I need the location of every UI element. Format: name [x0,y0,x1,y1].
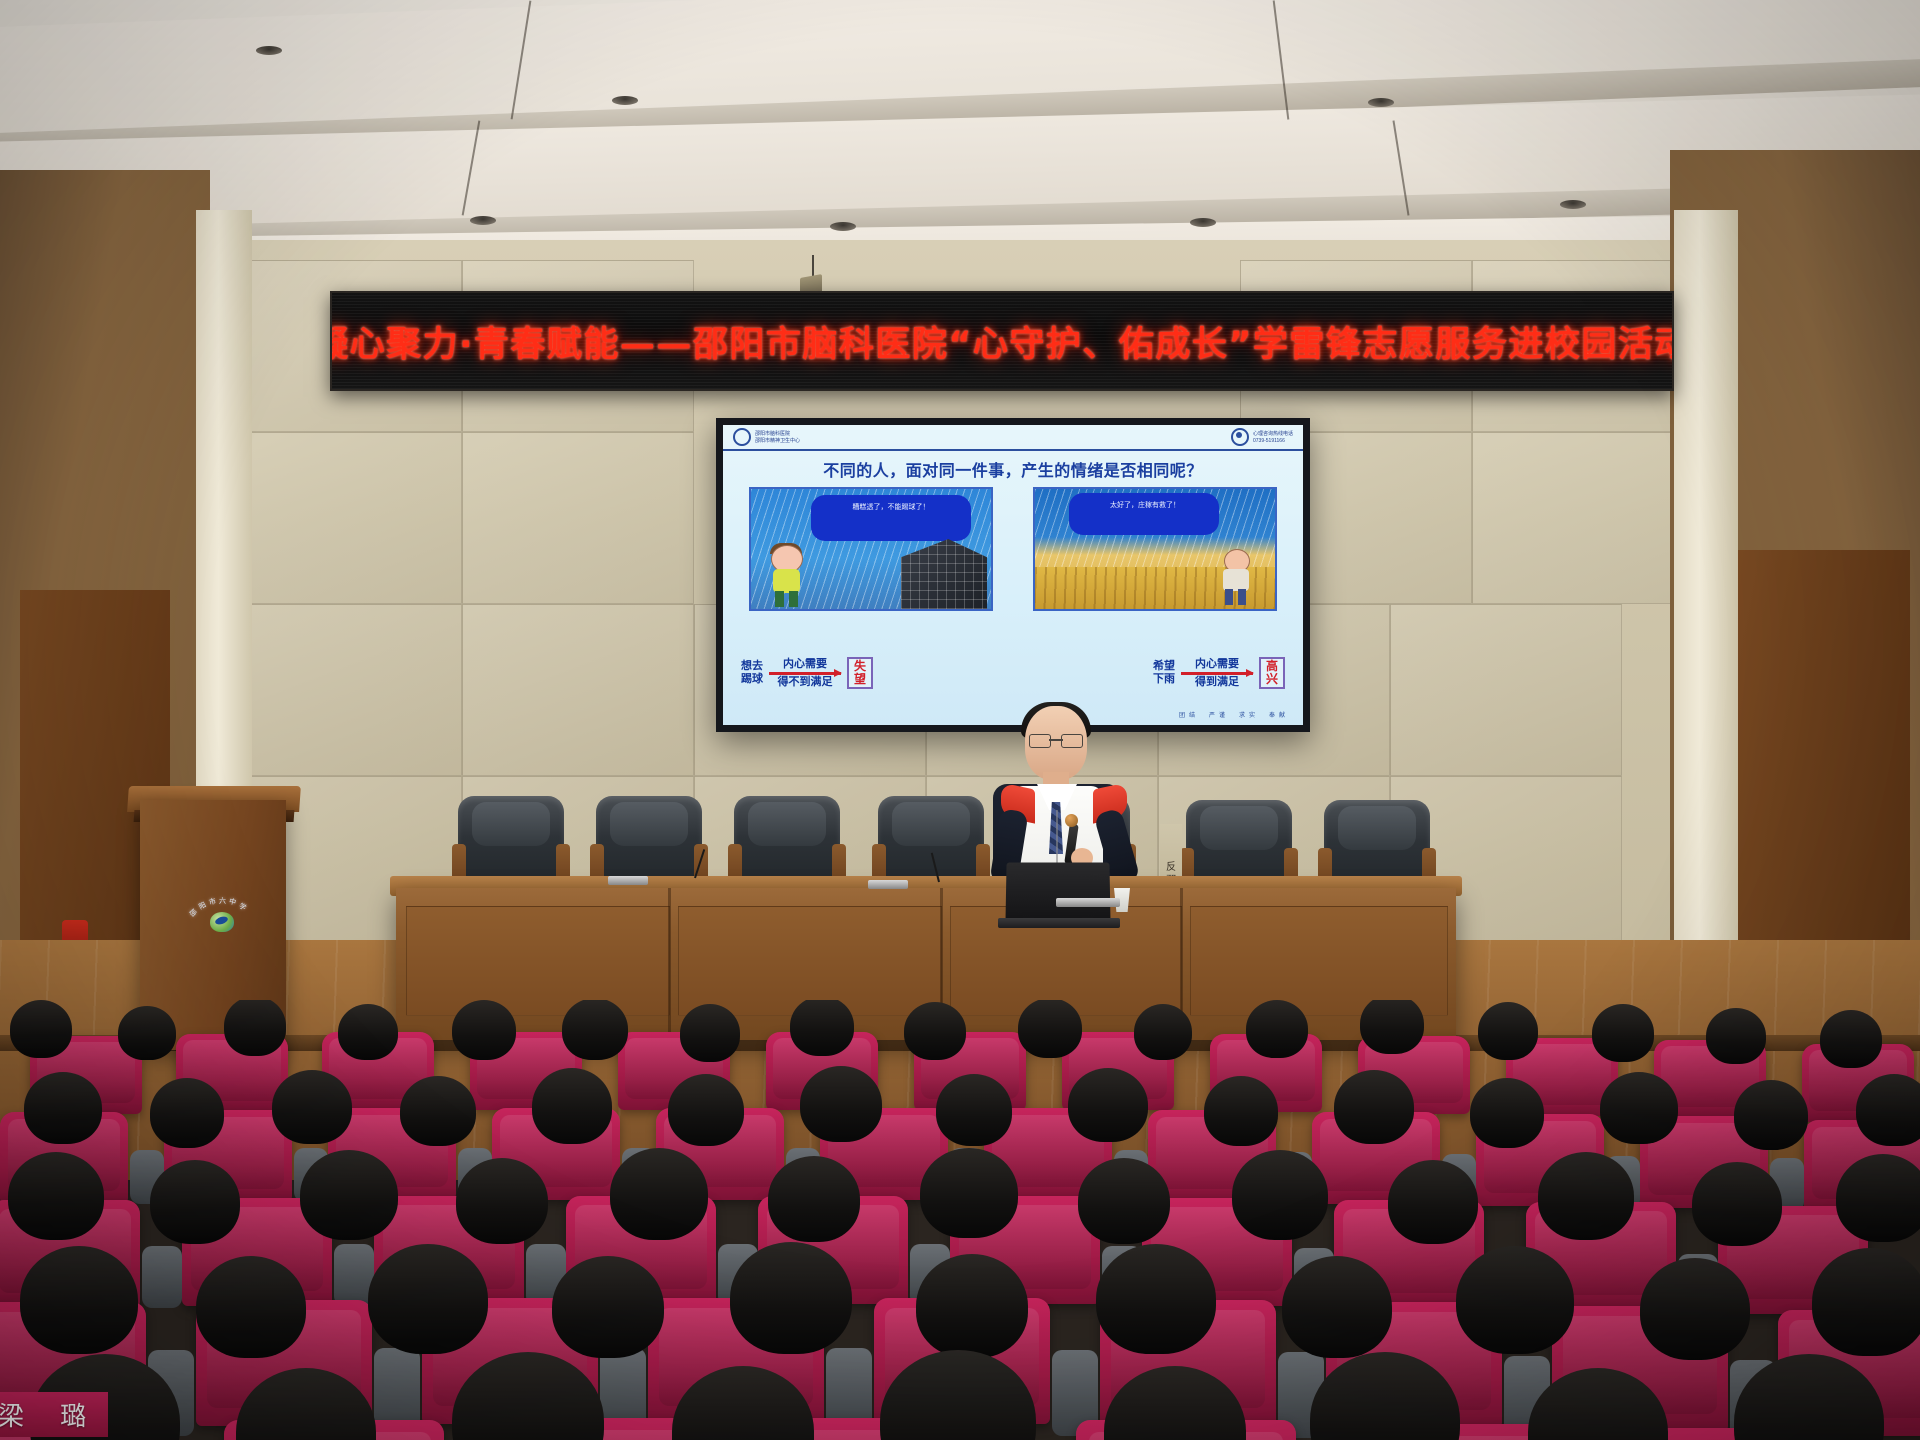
caption-left-result-2: 望 [854,673,866,686]
caption-right-result-2: 兴 [1266,673,1278,686]
phone-logo-icon [1231,428,1249,446]
slide-header: 邵阳市脑科医院 邵阳市精神卫生中心 心理咨询热线电话 0739-5191166 [723,425,1303,451]
wall-panel [230,604,462,776]
slide-title: 不同的人，面对同一件事，产生的情绪是否相同呢？ [723,457,1303,481]
emblem-char: 阳 [197,900,208,912]
caption-left-want-1: 想去 [741,660,763,673]
microphone-head-icon [1065,814,1078,827]
hospital-logo-icon [733,428,751,446]
cartoon-boy [767,545,807,607]
caption-right-mid-top: 内心需要 [1195,658,1239,671]
cartoon-bubble-text-left: 糟糕透了，不能踢球了！ [821,503,961,512]
result-box-left: 失 望 [847,657,873,689]
wall-panel [462,604,694,776]
downlight-icon [830,222,856,231]
glasses-icon [1029,734,1083,746]
emblem-char: 学 [237,901,248,913]
desk-microphone-base [868,880,908,889]
slide-header-right-line1: 心理咨询热线电话 [1253,431,1293,437]
wall-panel [230,432,462,604]
cartoon-bubble-text-right: 太好了，庄稼有救了！ [1077,501,1213,510]
cartoon-farmer [1219,549,1253,605]
school-bird-icon [210,912,234,932]
caption-right-want-2: 下雨 [1153,673,1175,686]
caption-left-mid-bottom: 得不到满足 [778,676,833,689]
presentation-slide: 邵阳市脑科医院 邵阳市精神卫生中心 心理咨询热线电话 0739-5191166 … [723,425,1303,725]
slide-captions: 想去 踢球 内心需要 得不到满足 失 望 希望 [741,651,1285,695]
hospital-logo: 邵阳市脑科医院 邵阳市精神卫生中心 [733,428,800,446]
arrow-icon [769,672,841,675]
caption-left-mid-top: 内心需要 [783,658,827,671]
slide-footer: 团结 严谨 求实 奉献 [1179,710,1289,719]
speech-cloud [811,495,971,541]
caption-right-mid-bottom: 得到满足 [1195,676,1239,689]
seat-armrest [142,1246,182,1308]
hotline-block: 心理咨询热线电话 0739-5191166 [1231,428,1293,446]
caption-left: 想去 踢球 内心需要 得不到满足 失 望 [741,657,873,689]
emblem-char: 六 [219,896,226,906]
wall-pillar [1674,210,1738,1010]
laptop-base [998,918,1120,928]
downlight-icon [470,216,496,225]
arrow-icon [1181,672,1253,675]
seat-name-label: 梁 璐 [0,1392,108,1437]
emblem-char: 邵 [188,907,200,919]
desk-microphone-base [608,876,648,885]
downlight-icon [612,96,638,105]
result-box-right: 高 兴 [1259,657,1285,689]
led-banner-text: 凝心聚力·青春赋能——邵阳市脑科医院“心守护、佑成长”学雷锋志愿服务进校园活动 [330,316,1674,367]
downlight-icon [1190,218,1216,227]
laptop[interactable] [1005,862,1110,924]
caption-right-want-1: 希望 [1153,660,1175,673]
caption-right: 希望 下雨 内心需要 得到满足 高 兴 [1153,657,1285,689]
slide-header-left-line1: 邵阳市脑科医院 [755,431,800,437]
audience-area: 梁 璐 [0,1000,1920,1440]
led-banner: 凝心聚力·青春赋能——邵阳市脑科医院“心守护、佑成长”学雷锋志愿服务进校园活动 [330,291,1674,391]
emblem-char: 中 [228,896,237,907]
emblem-char: 市 [208,896,217,907]
slide-cartoons: 糟糕透了，不能踢球了！ 太好了，庄稼有救了！ [749,487,1277,607]
slide-header-left-line2: 邵阳市精神卫生中心 [755,438,800,444]
speech-cloud [1069,493,1219,535]
projection-screen: 邵阳市脑科医院 邵阳市精神卫生中心 心理咨询热线电话 0739-5191166 … [716,418,1310,732]
cartoon-panel-left: 糟糕透了，不能踢球了！ [749,487,993,611]
downlight-icon [1368,98,1394,107]
sign-char: 反 [1166,862,1176,873]
cartoon-panel-right: 太好了，庄稼有救了！ [1033,487,1277,611]
downlight-icon [256,46,282,55]
downlight-icon [1560,200,1586,209]
side-door[interactable] [1730,550,1910,1000]
wall-panel [1390,604,1622,776]
auditorium-photo: 凝心聚力·青春赋能——邵阳市脑科医院“心守护、佑成长”学雷锋志愿服务进校园活动 … [0,0,1920,1440]
slide-header-right-line2: 0739-5191166 [1253,438,1293,444]
school-emblem: 邵 阳 市 六 中 学 [188,896,256,936]
name-plate [1056,898,1120,907]
wall-panel [462,432,694,604]
caption-left-want-2: 踢球 [741,673,763,686]
